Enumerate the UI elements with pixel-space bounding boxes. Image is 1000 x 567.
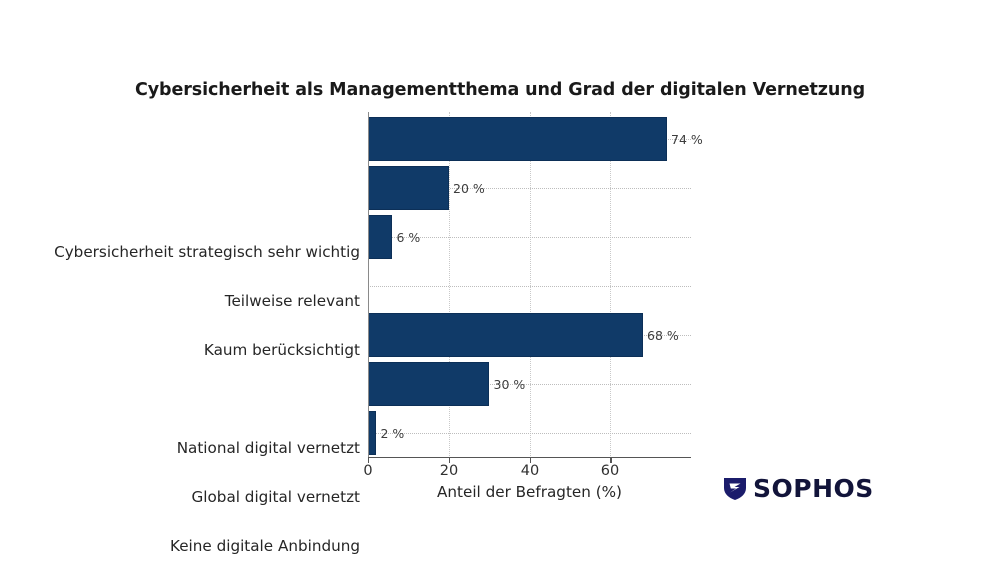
y-axis-label-5: Global digital vernetzt <box>10 488 360 506</box>
chart-figure: Cybersicherheit als Managementthema und … <box>0 0 1000 567</box>
chart-title: Cybersicherheit als Managementthema und … <box>0 80 1000 100</box>
y-axis-label-6: Keine digitale Anbindung <box>10 537 360 555</box>
x-tick-label-20: 20 <box>440 463 458 479</box>
bar-0[interactable] <box>368 117 667 161</box>
x-tick-label-40: 40 <box>521 463 539 479</box>
bar-value-label-0: 74 % <box>671 132 703 147</box>
plot-area: 74 % 20 % 6 % 68 % 30 % 2 % <box>368 112 691 458</box>
y-axis-label-1: Teilweise relevant <box>10 292 360 310</box>
gridline-vertical-60 <box>610 112 611 458</box>
gridline-vertical-40 <box>530 112 531 458</box>
bar-value-label-4: 68 % <box>647 328 679 343</box>
bar-value-label-2: 6 % <box>397 230 421 245</box>
x-axis-title: Anteil der Befragten (%) <box>368 483 691 501</box>
gridline-horizontal-6 <box>368 433 691 434</box>
bar-1[interactable] <box>368 166 449 210</box>
gridline-vertical-20 <box>449 112 450 458</box>
bar-value-label-5: 30 % <box>494 377 526 392</box>
y-axis-spine <box>368 112 369 458</box>
gridline-horizontal-3 <box>368 286 691 287</box>
sophos-logo: SOPHOS <box>722 474 874 502</box>
bar-4[interactable] <box>368 313 643 357</box>
y-axis-labels: Cybersicherheit strategisch sehr wichtig… <box>8 112 360 458</box>
sophos-shield-icon <box>722 475 748 501</box>
y-axis-label-0: Cybersicherheit strategisch sehr wichtig <box>10 243 360 261</box>
y-axis-label-4: National digital vernetzt <box>10 439 360 457</box>
bar-value-label-6: 2 % <box>381 426 405 441</box>
x-tick-label-0: 0 <box>363 463 372 479</box>
x-tick-label-60: 60 <box>601 463 619 479</box>
y-axis-label-2: Kaum berücksichtigt <box>10 341 360 359</box>
bar-5[interactable] <box>368 362 489 406</box>
bar-value-label-1: 20 % <box>453 181 485 196</box>
sophos-wordmark: SOPHOS <box>753 476 874 501</box>
bar-2[interactable] <box>368 215 392 259</box>
